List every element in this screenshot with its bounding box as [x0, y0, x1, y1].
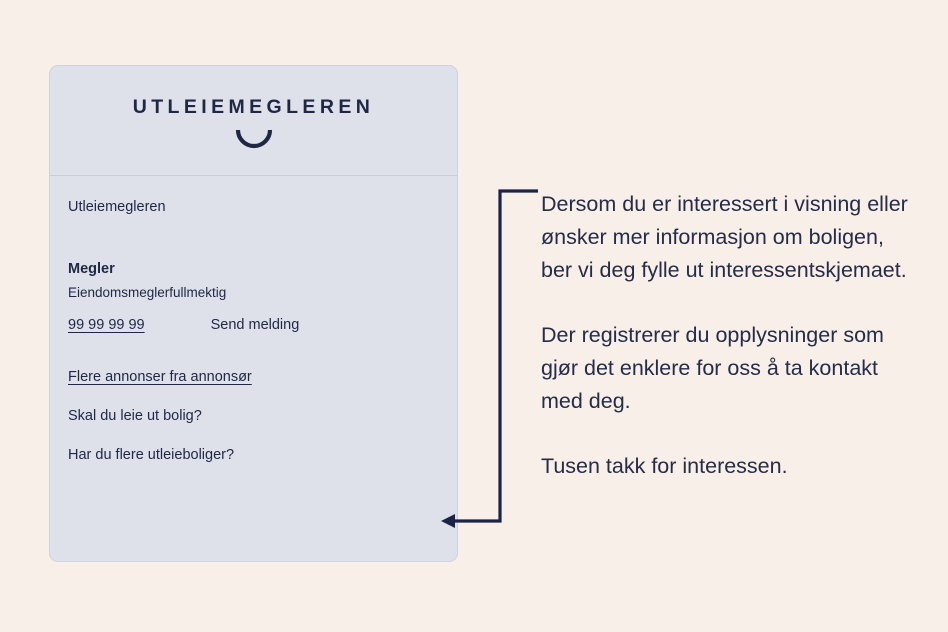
- annotation-paragraph-2: Der registrerer du opplysninger som gjør…: [541, 319, 911, 418]
- rent-out-home-link[interactable]: Skal du leie ut bolig?: [68, 408, 439, 424]
- brand-logo-text: UTLEIEMEGLEREN: [50, 96, 457, 119]
- multiple-rentals-link[interactable]: Har du flere utleieboliger?: [68, 447, 439, 463]
- more-ads-from-advertiser-link[interactable]: Flere annonser fra annonsør: [68, 369, 439, 385]
- advertiser-links-group: Flere annonser fra annonsør Skal du leie…: [68, 369, 439, 463]
- card-header: UTLEIEMEGLEREN: [50, 66, 457, 176]
- annotation-paragraph-1: Dersom du er interessert i visning eller…: [541, 188, 911, 287]
- send-message-link[interactable]: Send melding: [211, 317, 300, 333]
- contact-row: 99 99 99 99 Send melding: [68, 317, 439, 333]
- annotation-paragraph-3: Tusen takk for interessen.: [541, 450, 911, 483]
- smile-arc-icon: [50, 128, 457, 150]
- agent-role-heading: Megler: [68, 261, 439, 277]
- agent-contact-card: UTLEIEMEGLEREN Utleiemegleren Megler Eie…: [49, 65, 458, 562]
- card-body: Utleiemegleren Megler Eiendomsmeglerfull…: [50, 176, 457, 562]
- phone-number-link[interactable]: 99 99 99 99: [68, 317, 145, 333]
- company-name: Utleiemegleren: [68, 198, 439, 218]
- agent-job-title: Eiendomsmeglerfullmektig: [68, 285, 439, 300]
- annotation-text-block: Dersom du er interessert i visning eller…: [541, 188, 911, 483]
